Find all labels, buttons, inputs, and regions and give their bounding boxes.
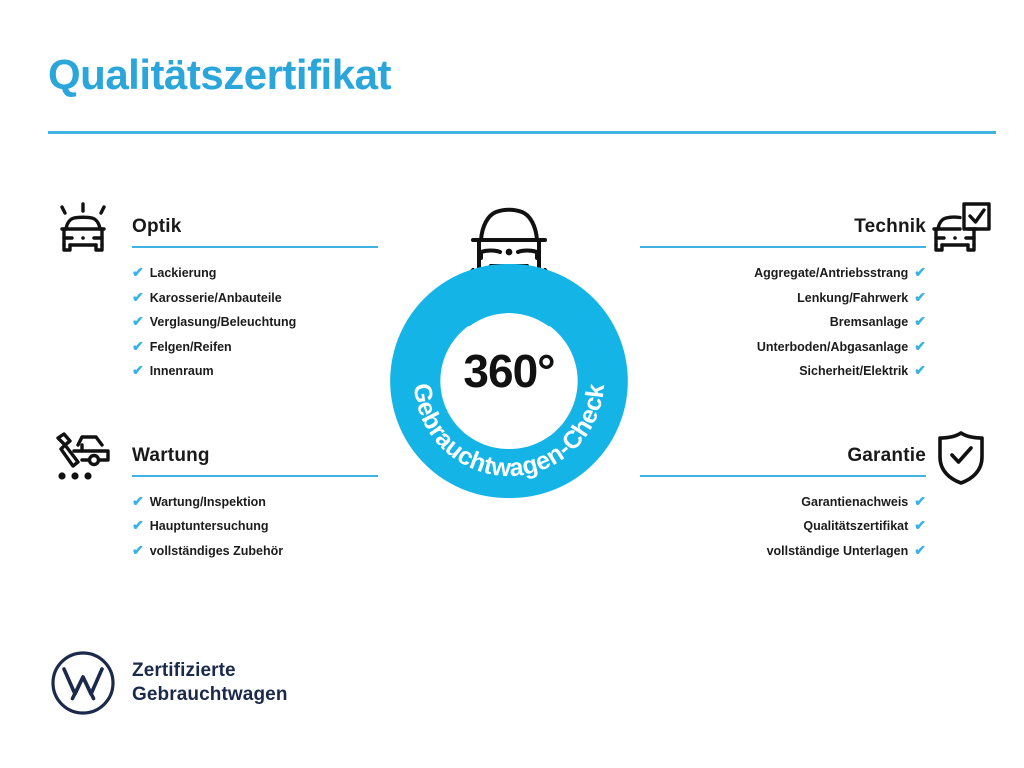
check-icon: ✔	[132, 514, 144, 538]
check-icon: ✔	[914, 539, 926, 563]
check-icon: ✔	[914, 335, 926, 359]
list-item: ✔Felgen/Reifen	[132, 335, 378, 360]
check-icon: ✔	[132, 310, 144, 334]
check-icon: ✔	[132, 539, 144, 563]
list-item-label: Karosserie/Anbauteile	[150, 291, 282, 305]
list-item: ✔Verglasung/Beleuchtung	[132, 310, 378, 335]
list-item-label: Garantienachweis	[801, 495, 908, 509]
list-item: ✔vollständiges Zubehör	[132, 539, 378, 564]
list-item: ✔Innenraum	[132, 359, 378, 384]
list-item: Aggregate/Antriebsstrang✔	[640, 261, 926, 286]
list-item-label: Hauptuntersuchung	[150, 519, 269, 533]
check-icon: ✔	[132, 286, 144, 310]
list-item: Lenkung/Fahrwerk✔	[640, 286, 926, 311]
list-item-label: Lenkung/Fahrwerk	[797, 291, 908, 305]
list-item: ✔Karosserie/Anbauteile	[132, 286, 378, 311]
section-optik-items: ✔Lackierung ✔Karosserie/Anbauteile ✔Verg…	[48, 261, 378, 384]
badge-center-label: 360°	[381, 348, 637, 394]
badge-360-check: Gebrauchtwagen-Check 360°	[381, 196, 637, 498]
list-item-label: Verglasung/Beleuchtung	[150, 315, 297, 329]
section-wartung-divider	[132, 475, 378, 477]
check-icon: ✔	[914, 310, 926, 334]
list-item-label: vollständiges Zubehör	[150, 544, 283, 558]
section-wartung: Wartung ✔Wartung/Inspektion ✔Hauptunters…	[48, 429, 378, 564]
vw-logo-text: Zertifizierte Gebrauchtwagen	[132, 659, 288, 707]
certificate-page: Qualitätszertifikat Optik	[0, 0, 1024, 768]
right-column: Technik Aggregate/Antriebsstrang✔ Lenkun…	[640, 200, 996, 563]
check-icon: ✔	[914, 261, 926, 285]
list-item: ✔Lackierung	[132, 261, 378, 286]
check-icon: ✔	[132, 490, 144, 514]
list-item-label: Felgen/Reifen	[150, 340, 232, 354]
check-icon: ✔	[914, 286, 926, 310]
section-technik-title: Technik	[854, 216, 926, 238]
section-technik-header: Technik	[640, 200, 996, 248]
section-technik-items: Aggregate/Antriebsstrang✔ Lenkung/Fahrwe…	[640, 261, 996, 384]
vw-logo-line1: Zertifizierte	[132, 659, 288, 683]
check-icon: ✔	[914, 490, 926, 514]
section-optik-header: Optik	[48, 200, 378, 248]
page-title: Qualitätszertifikat	[48, 52, 391, 98]
check-icon: ✔	[132, 335, 144, 359]
left-column: Optik ✔Lackierung ✔Karosserie/Anbauteile…	[48, 200, 378, 563]
list-item-label: Bremsanlage	[830, 315, 909, 329]
list-item-label: Sicherheit/Elektrik	[799, 364, 908, 378]
check-icon: ✔	[132, 359, 144, 383]
section-optik-divider	[132, 246, 378, 248]
list-item: ✔Wartung/Inspektion	[132, 490, 378, 515]
title-divider	[48, 131, 996, 134]
section-wartung-title: Wartung	[132, 445, 210, 467]
section-optik-title: Optik	[132, 216, 182, 238]
list-item: Garantienachweis✔	[640, 490, 926, 515]
vw-logo-icon	[50, 650, 116, 716]
list-item-label: Wartung/Inspektion	[150, 495, 266, 509]
list-item: Unterboden/Abgasanlage✔	[640, 335, 926, 360]
list-item: Qualitätszertifikat✔	[640, 514, 926, 539]
vw-logo-line2: Gebrauchtwagen	[132, 683, 288, 707]
section-garantie-divider	[640, 475, 926, 477]
list-item-label: Lackierung	[150, 266, 217, 280]
section-technik-divider	[640, 246, 926, 248]
list-item-label: Qualitätszertifikat	[803, 519, 908, 533]
list-item-label: vollständige Unterlagen	[767, 544, 909, 558]
list-item: Sicherheit/Elektrik✔	[640, 359, 926, 384]
list-item-label: Aggregate/Antriebsstrang	[754, 266, 908, 280]
section-wartung-items: ✔Wartung/Inspektion ✔Hauptuntersuchung ✔…	[48, 490, 378, 564]
list-item: ✔Hauptuntersuchung	[132, 514, 378, 539]
check-icon: ✔	[914, 514, 926, 538]
section-optik: Optik ✔Lackierung ✔Karosserie/Anbauteile…	[48, 200, 378, 384]
check-icon: ✔	[132, 261, 144, 285]
check-icon: ✔	[914, 359, 926, 383]
section-wartung-header: Wartung	[48, 429, 378, 477]
list-item-label: Unterboden/Abgasanlage	[757, 340, 908, 354]
section-garantie: Garantie Garantienachweis✔ Qualitätszert…	[640, 429, 996, 564]
section-garantie-header: Garantie	[640, 429, 996, 477]
section-garantie-title: Garantie	[847, 445, 926, 467]
list-item: vollständige Unterlagen✔	[640, 539, 926, 564]
list-item-label: Innenraum	[150, 364, 214, 378]
vw-footer-logo: Zertifizierte Gebrauchtwagen	[50, 650, 288, 716]
list-item: Bremsanlage✔	[640, 310, 926, 335]
section-garantie-items: Garantienachweis✔ Qualitätszertifikat✔ v…	[640, 490, 996, 564]
section-technik: Technik Aggregate/Antriebsstrang✔ Lenkun…	[640, 200, 996, 384]
